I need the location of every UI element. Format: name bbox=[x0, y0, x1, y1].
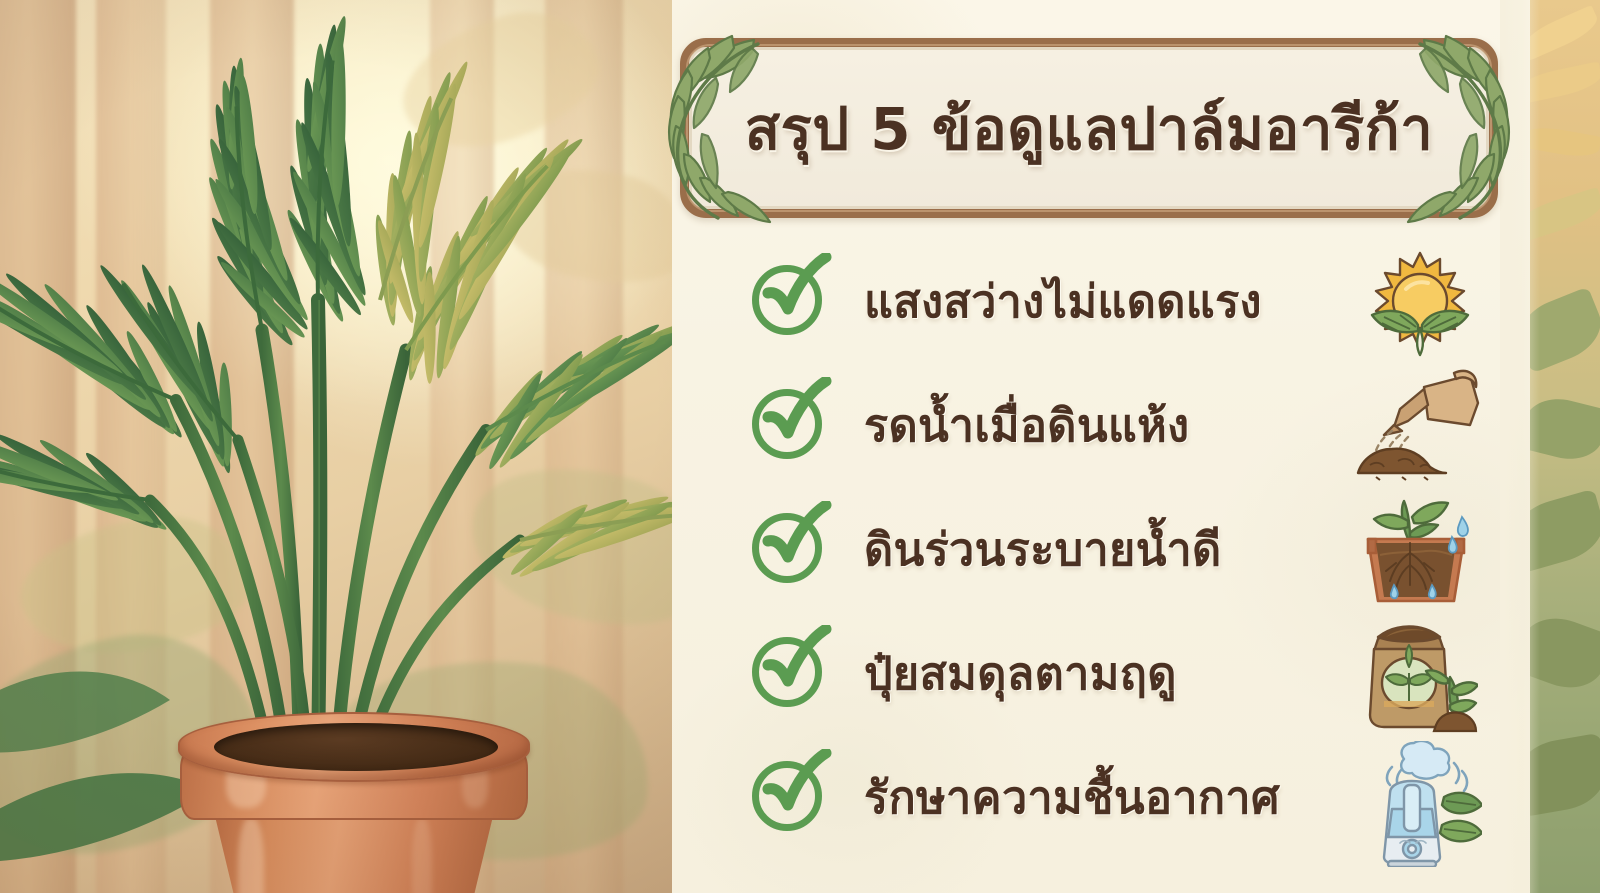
tick-glyph-icon bbox=[760, 501, 834, 575]
care-checklist: แสงสว่างไม่แดดแรง bbox=[740, 236, 1480, 876]
edge-leaf bbox=[1530, 187, 1600, 243]
pot-soil bbox=[214, 723, 498, 771]
watering-can-soil-icon bbox=[1360, 369, 1480, 481]
checklist-item-2[interactable]: รดน้ำเมื่อดินแห้ง bbox=[740, 366, 1480, 484]
humidifier-mist-icon bbox=[1360, 741, 1480, 853]
checklist-item-1[interactable]: แสงสว่างไม่แดดแรง bbox=[740, 242, 1480, 360]
tick-glyph-icon bbox=[760, 253, 834, 327]
checklist-item-4[interactable]: ปุ๋ยสมดุลตามฤดู bbox=[740, 614, 1480, 732]
edge-leaf bbox=[1530, 489, 1600, 574]
checklist-item-label: ดินร่วนระบายน้ำดี bbox=[864, 513, 1360, 585]
tick-glyph-icon bbox=[760, 625, 834, 699]
page-title: สรุป 5 ข้อดูแลปาล์มอารีก้า bbox=[680, 38, 1498, 218]
pot-body bbox=[214, 812, 494, 893]
check-mark-icon bbox=[746, 631, 830, 715]
poster-root: สรุป 5 ข้อดูแลปาล์มอารีก้า แสงสว่างไม่แด… bbox=[0, 0, 1600, 893]
edge-leaf bbox=[1530, 286, 1600, 373]
check-mark-icon bbox=[746, 259, 830, 343]
edge-leaf bbox=[1530, 5, 1600, 61]
tick-glyph-icon bbox=[760, 377, 834, 451]
title-plaque: สรุป 5 ข้อดูแลปาล์มอารีก้า bbox=[680, 38, 1498, 218]
checklist-item-5[interactable]: รักษาความชื้นอากาศ bbox=[740, 738, 1480, 856]
edge-leaf bbox=[1530, 607, 1600, 698]
edge-leaf bbox=[1530, 733, 1600, 818]
fertilizer-sack-icon bbox=[1360, 617, 1480, 729]
checklist-item-3[interactable]: ดินร่วนระบายน้ำดี bbox=[740, 490, 1480, 608]
draining-pot-seedling-icon bbox=[1360, 493, 1480, 605]
pot-highlight bbox=[412, 818, 432, 893]
palm-fronds bbox=[0, 12, 672, 584]
pot-highlight bbox=[238, 818, 264, 893]
checklist-item-label: รักษาความชื้นอากาศ bbox=[864, 761, 1360, 833]
edge-leaf bbox=[1530, 61, 1600, 104]
check-mark-icon bbox=[746, 755, 830, 839]
right-edge-foliage bbox=[1530, 0, 1600, 893]
checklist-item-label: ปุ๋ยสมดุลตามฤดู bbox=[864, 637, 1360, 709]
palm-illustration bbox=[0, 0, 672, 893]
check-mark-icon bbox=[746, 383, 830, 467]
edge-leaf bbox=[1530, 123, 1600, 160]
sun-with-leaves-icon bbox=[1360, 245, 1480, 357]
checklist-item-label: แสงสว่างไม่แดดแรง bbox=[864, 265, 1360, 337]
edge-leaf bbox=[1530, 391, 1600, 467]
tick-glyph-icon bbox=[760, 749, 834, 823]
checklist-item-label: รดน้ำเมื่อดินแห้ง bbox=[864, 389, 1360, 461]
check-mark-icon bbox=[746, 507, 830, 591]
terracotta-pot bbox=[178, 712, 530, 893]
pot-rim bbox=[178, 712, 530, 782]
